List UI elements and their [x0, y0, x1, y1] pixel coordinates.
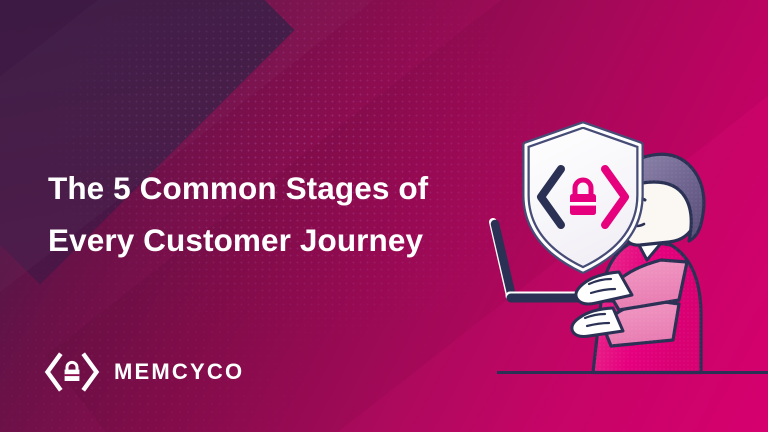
promo-banner: The 5 Common Stages of Every Customer Jo… — [0, 0, 768, 432]
brand-logo: MEMCYCO — [44, 352, 244, 392]
headline-line-1: The 5 Common Stages of — [48, 162, 478, 214]
chevrons-padlock-icon — [44, 352, 100, 392]
person-arms-hands — [572, 260, 687, 346]
headline-line-2: Every Customer Journey — [48, 214, 478, 266]
headline: The 5 Common Stages of Every Customer Jo… — [48, 162, 478, 266]
brand-wordmark: MEMCYCO — [114, 359, 244, 385]
hero-illustration — [455, 100, 768, 432]
